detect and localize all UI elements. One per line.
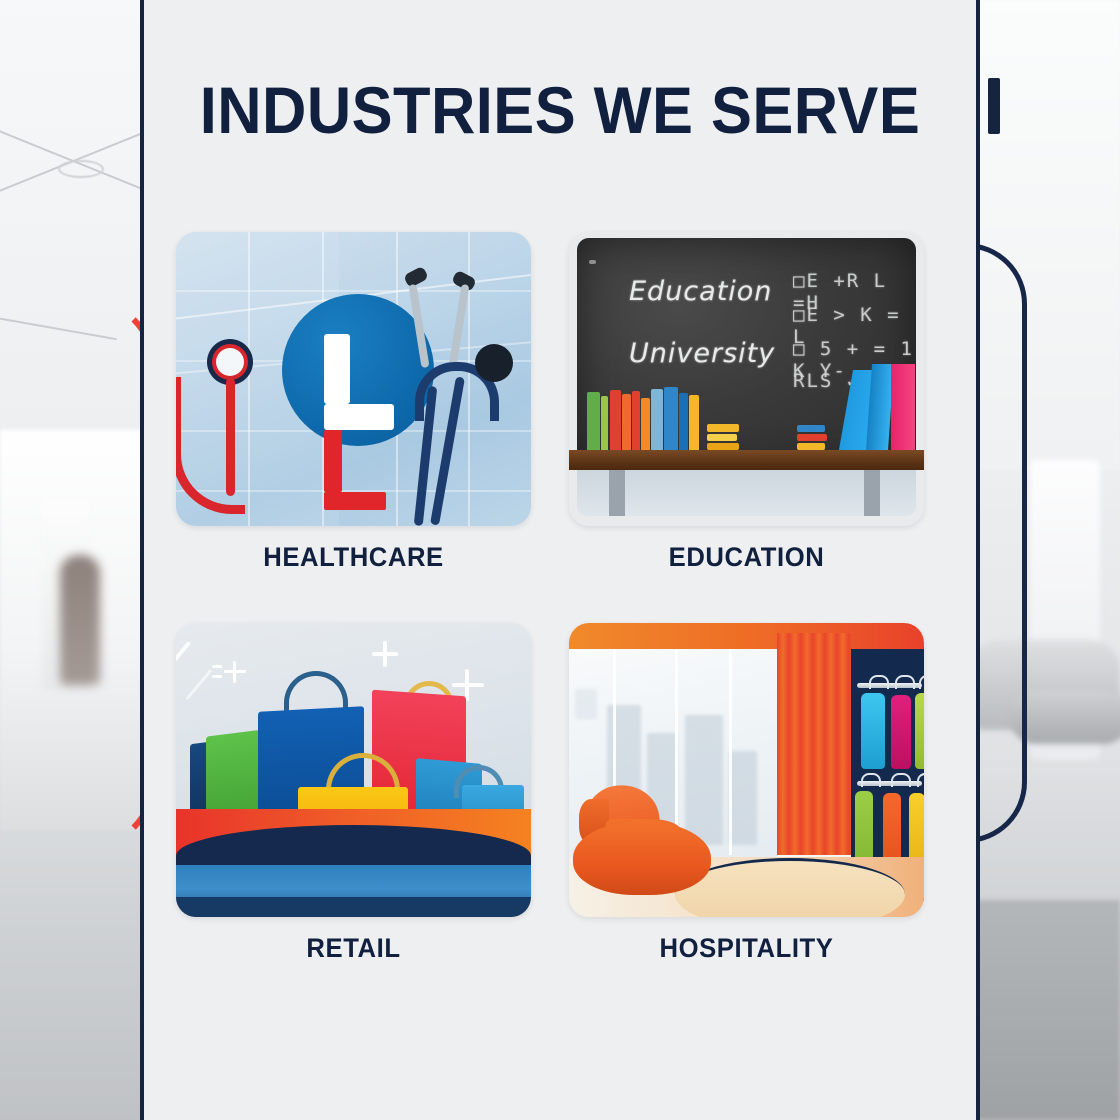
stethoscope-red-tube-stem bbox=[226, 378, 235, 496]
main-panel: INDUSTRIES WE SERVE bbox=[144, 0, 976, 1120]
lounge-floor bbox=[970, 900, 1120, 1120]
industry-cell-hospitality[interactable]: HOSPITALITY bbox=[569, 623, 924, 964]
hospitality-card-image[interactable] bbox=[569, 623, 924, 917]
lounge-ottoman bbox=[573, 821, 711, 895]
ceiling-band bbox=[569, 623, 924, 649]
orange-curtain bbox=[777, 633, 851, 855]
big-book-pink bbox=[891, 364, 915, 450]
chalk-text-university: University bbox=[629, 338, 775, 369]
window-mullion bbox=[729, 649, 732, 855]
garment-cyan bbox=[861, 693, 885, 769]
hanger-icon bbox=[861, 773, 881, 787]
card-row-1: HEALTHCARE Education University □E +R L … bbox=[176, 232, 944, 573]
industry-cell-education[interactable]: Education University □E +R L =H □E > K =… bbox=[569, 232, 924, 573]
ceiling-grid bbox=[0, 0, 150, 300]
frame-rule-right bbox=[976, 0, 980, 1120]
wooden-shelf bbox=[569, 450, 924, 470]
card-label-education: EDUCATION bbox=[578, 542, 915, 573]
garment-magenta bbox=[891, 695, 911, 769]
chalkboard-mark-icon bbox=[589, 260, 596, 264]
education-card-image[interactable]: Education University □E +R L =H □E > K =… bbox=[569, 232, 924, 526]
card-label-healthcare: HEALTHCARE bbox=[185, 542, 522, 573]
card-label-hospitality: HOSPITALITY bbox=[578, 933, 915, 964]
hanger-icon bbox=[895, 675, 915, 689]
frame-rule-left bbox=[140, 0, 144, 1120]
card-row-2: RETAIL bbox=[176, 623, 944, 964]
page-title: INDUSTRIES WE SERVE bbox=[173, 72, 947, 148]
medical-cross-icon bbox=[324, 334, 394, 404]
retail-card-image[interactable] bbox=[176, 623, 531, 917]
hanger-icon bbox=[891, 773, 911, 787]
hanger-icon bbox=[919, 675, 924, 689]
industry-card-grid: HEALTHCARE Education University □E +R L … bbox=[176, 232, 944, 964]
book-stack-middle bbox=[797, 423, 827, 450]
card-label-retail: RETAIL bbox=[185, 933, 522, 964]
poster-stage: INDUSTRIES WE SERVE bbox=[0, 0, 1120, 1120]
frame-tick-mark bbox=[988, 78, 1000, 134]
retail-counter-shadow bbox=[176, 897, 531, 917]
hanger-icon bbox=[869, 675, 889, 689]
chalk-text-education: Education bbox=[629, 276, 772, 307]
book-stack-small bbox=[707, 422, 739, 450]
shelf-leg-left bbox=[609, 470, 625, 516]
smoke-detector-icon bbox=[58, 160, 104, 178]
garment-lime bbox=[915, 693, 924, 769]
industry-cell-healthcare[interactable]: HEALTHCARE bbox=[176, 232, 531, 573]
shelf-leg-right bbox=[864, 470, 880, 516]
healthcare-card-image[interactable] bbox=[176, 232, 531, 526]
hanger-icon bbox=[917, 773, 924, 787]
stethoscope-navy-icon bbox=[387, 266, 517, 516]
industry-cell-retail[interactable]: RETAIL bbox=[176, 623, 531, 964]
